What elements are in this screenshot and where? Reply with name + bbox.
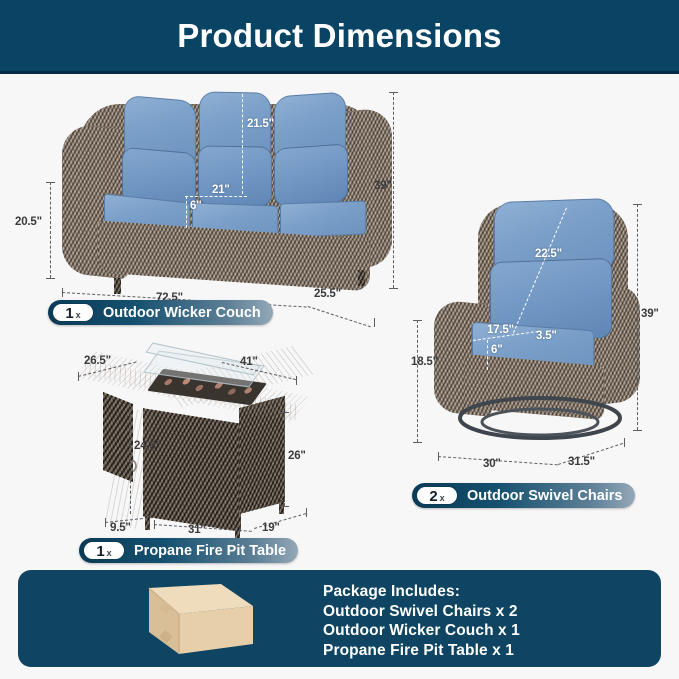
firepit-overall-height-label: 26": [288, 450, 306, 462]
couch-back-cushion-height-label: 21.5": [247, 118, 274, 130]
couch-arm-height-line: [50, 182, 51, 278]
propane-fire-pit-table-illustration: [75, 358, 325, 528]
chair-back-cushion-height-label: 22.5": [535, 248, 562, 260]
header-banner: Product Dimensions: [0, 0, 679, 74]
chair-seat-thickness-label: 6": [491, 344, 502, 356]
firepit-badge-multiplier: x: [107, 548, 112, 558]
firepit-top-width-label: 41": [240, 356, 258, 368]
chair-badge-number: 2: [429, 487, 437, 506]
chair-overall-width-label: 30": [483, 458, 501, 470]
couch-back-height-line: [242, 94, 243, 194]
couch-overall-height-label: 39": [374, 180, 392, 192]
package-text-block: Package Includes: Outdoor Swivel Chairs …: [323, 582, 520, 660]
firepit-top-depth-label: 26.5": [84, 355, 111, 367]
couch-seat-thickness-label: 6": [190, 200, 201, 212]
chair-seat-height-label: 18.5": [411, 356, 438, 368]
firepit-tank-door-height-line: [130, 404, 131, 514]
chair-seat-depth-label: 17.5": [487, 324, 514, 336]
chair-overall-depth-label: 31.5": [568, 456, 595, 468]
package-item-1: Outdoor Wicker Couch x 1: [323, 621, 520, 641]
couch-seat-depth-line: [185, 196, 247, 197]
chair-badge[interactable]: 2 x Outdoor Swivel Chairs: [412, 483, 635, 508]
couch-badge-multiplier: x: [76, 310, 81, 320]
couch-overall-height-line: [393, 92, 394, 288]
firepit-base-width-label: 31": [188, 524, 206, 536]
carton-box-icon: [103, 584, 253, 658]
couch-depth-line: [308, 306, 371, 327]
firepit-tank-door-width-label: 9.5": [110, 522, 131, 534]
firepit-tank-door-height-label: 24.5": [134, 440, 161, 452]
couch-overall-depth-label: 25.5": [314, 288, 341, 300]
page-title: Product Dimensions: [177, 17, 501, 55]
chair-overall-height-line: [637, 204, 638, 430]
couch-badge-count: 1 x: [52, 303, 94, 322]
couch-seat-depth-label: 21": [212, 184, 230, 196]
couch-badge-label: Outdoor Wicker Couch: [103, 305, 261, 321]
firepit-badge-label: Propane Fire Pit Table: [134, 543, 286, 559]
firepit-height-line: [284, 412, 285, 506]
couch-arm-height-label: 20.5": [15, 216, 42, 228]
couch-badge[interactable]: 1 x Outdoor Wicker Couch: [48, 300, 273, 325]
chair-badge-multiplier: x: [440, 493, 445, 503]
product-dimensions-infographic: Product Dimensions 21.5" 21" 6": [0, 0, 679, 679]
chair-seat-thickness-line: [487, 340, 488, 370]
firepit-badge-number: 1: [96, 542, 104, 561]
couch-badge-number: 1: [65, 304, 73, 323]
chair-arm-width-label: 3.5": [536, 330, 557, 342]
chair-badge-count: 2 x: [416, 486, 458, 505]
package-includes-panel: Package Includes: Outdoor Swivel Chairs …: [18, 570, 661, 667]
swivel-base-icon: [452, 394, 628, 442]
firepit-badge-count: 1 x: [83, 541, 125, 560]
package-item-2: Propane Fire Pit Table x 1: [323, 641, 520, 661]
outdoor-swivel-chair-illustration: [432, 198, 642, 448]
package-heading: Package Includes:: [323, 582, 520, 602]
chair-seat-height-line: [417, 320, 418, 442]
firepit-base-depth-label: 19": [262, 522, 280, 534]
chair-overall-height-label: 39": [641, 308, 659, 320]
firepit-badge[interactable]: 1 x Propane Fire Pit Table: [79, 538, 298, 563]
chair-badge-label: Outdoor Swivel Chairs: [467, 488, 623, 504]
couch-seat-thickness-line: [186, 196, 187, 228]
package-item-0: Outdoor Swivel Chairs x 2: [323, 602, 520, 622]
